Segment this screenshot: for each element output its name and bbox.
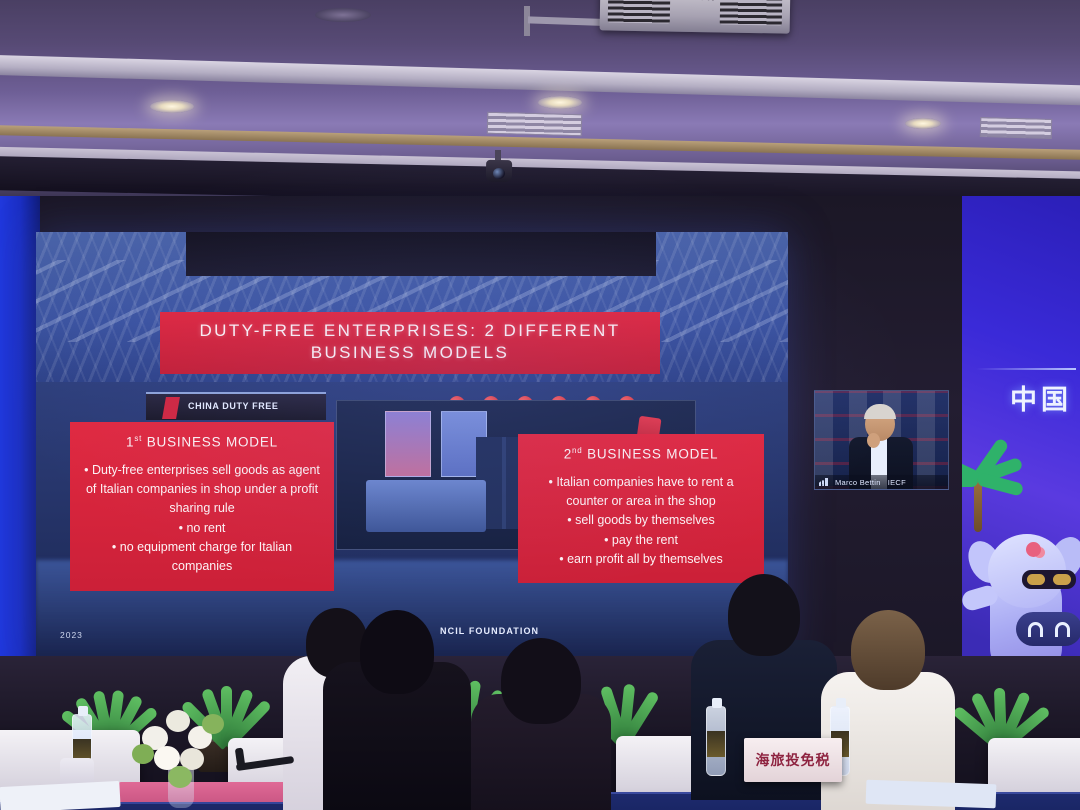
signal-bars-icon — [819, 478, 828, 486]
speaker-video-overlay: Marco Bettin IECF — [814, 390, 949, 490]
store-banner-sign: CHINA DUTY FREE — [146, 392, 326, 420]
conference-room-scene: EPSON 中国 — [0, 0, 1080, 810]
model-1-ordinal: st — [134, 434, 142, 443]
list-item: pay the rent — [530, 531, 752, 550]
model-2-ordinal: nd — [572, 446, 583, 455]
slide-title: DUTY-FREE ENTERPRISES: 2 DIFFERENT BUSIN… — [160, 312, 660, 374]
list-item: sell goods by themselves — [530, 511, 752, 530]
water-bottle — [706, 706, 726, 776]
speaker-hand — [867, 433, 880, 448]
table-name-card: 海旅投免税 — [744, 738, 842, 782]
panel-divider — [976, 368, 1076, 370]
list-item: Duty-free enterprises sell goods as agen… — [82, 461, 322, 519]
speaker-name: Marco Bettin — [835, 478, 881, 487]
speaker-hair — [864, 404, 896, 419]
document — [0, 781, 121, 810]
speaker-affiliation: IECF — [888, 478, 906, 487]
store-roof-shadow — [186, 232, 656, 276]
air-vent-icon — [487, 112, 583, 136]
store-logo-mark — [162, 397, 180, 419]
potted-plant — [948, 660, 1044, 748]
audience-head — [360, 610, 434, 694]
business-model-2-heading: 2nd BUSINESS MODEL — [530, 446, 752, 462]
projector-grille-icon — [608, 0, 671, 24]
audience-member — [322, 584, 472, 810]
store-poster — [385, 411, 431, 477]
store-banner-text: CHINA DUTY FREE — [188, 401, 279, 411]
air-vent-icon — [980, 117, 1052, 139]
document — [866, 780, 997, 809]
list-item: Italian companies have to rent a counter… — [530, 473, 752, 512]
model-2-number: 2 — [564, 447, 572, 462]
store-counter — [366, 480, 486, 532]
audience-head — [851, 610, 925, 690]
palm-tree-icon — [962, 446, 1022, 524]
downlight-icon — [905, 118, 941, 129]
flower-arrangement — [126, 700, 236, 808]
model-1-heading-rest: BUSINESS MODEL — [142, 435, 278, 450]
audience-head — [728, 574, 800, 656]
name-card-text: 海旅投免税 — [756, 750, 831, 770]
downlight-icon — [538, 96, 582, 109]
business-model-1-heading: 1st BUSINESS MODEL — [82, 434, 322, 450]
audience-member — [470, 614, 612, 810]
business-model-2-bullets: Italian companies have to rent a counter… — [530, 473, 752, 570]
mascot-flower-icon — [1026, 542, 1041, 557]
downlight-icon — [150, 100, 194, 113]
list-item: no rent — [82, 519, 322, 538]
security-camera-icon — [486, 160, 512, 182]
speaker-name-bar: Marco Bettin IECF — [815, 475, 948, 489]
panel-chinese-text: 中国 — [1010, 378, 1072, 417]
bottle-label — [707, 731, 725, 757]
audience-head — [501, 638, 581, 724]
ceiling-recess — [315, 8, 371, 22]
ceiling: EPSON — [0, 0, 1080, 200]
model-2-heading-rest: BUSINESS MODEL — [583, 447, 719, 462]
epson-projector: EPSON — [600, 0, 791, 34]
